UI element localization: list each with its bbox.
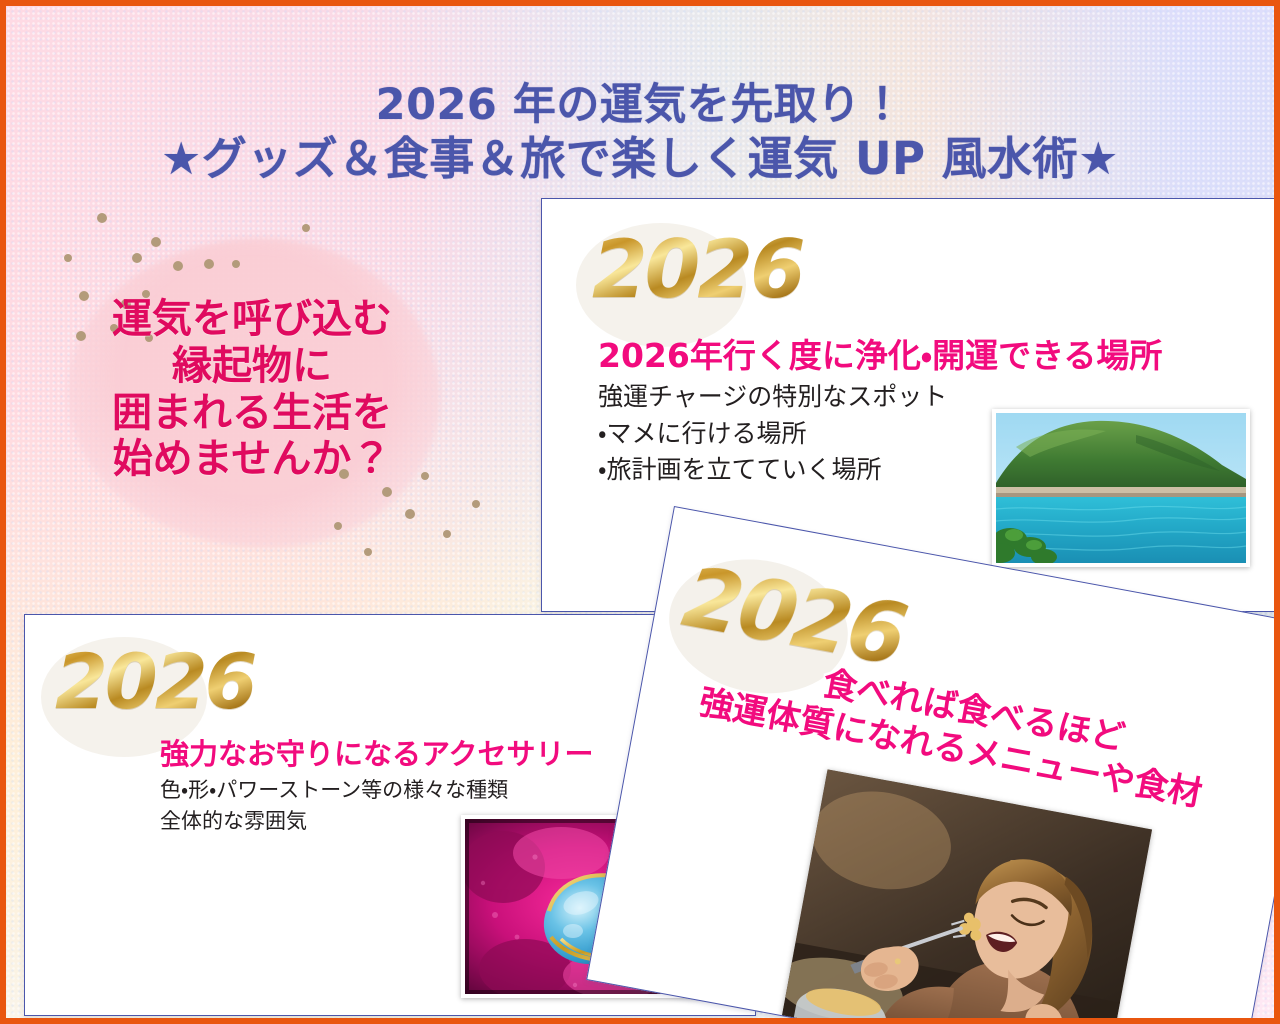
confetti-dot xyxy=(204,259,214,269)
woman-eating-photo xyxy=(782,769,1152,1024)
confetti-dot xyxy=(364,548,372,556)
island-sea-illustration xyxy=(996,413,1246,563)
confetti-dot xyxy=(472,500,480,508)
confetti-dot xyxy=(443,530,451,538)
card-place-heading: 2026年行く度に浄化・開運できる場所 xyxy=(598,329,1162,377)
confetti-dot xyxy=(173,261,183,271)
confetti-dot xyxy=(97,213,107,223)
confetti-dot xyxy=(151,237,161,247)
title-line-2: ★グッズ＆食事＆旅で楽しく運気 UP 風水術★ xyxy=(6,132,1274,187)
year-badge-2026: 2026 xyxy=(592,223,803,316)
island-sea-photo xyxy=(992,409,1250,567)
year-badge-2026: 2026 xyxy=(55,637,255,726)
confetti-dot xyxy=(382,487,392,497)
lead-copy-line-4: 始めませんか？ xyxy=(66,436,438,483)
confetti-dot xyxy=(232,260,240,268)
title-line-1: 2026 年の運気を先取り！ xyxy=(6,79,1274,131)
poster-canvas: 2026 年の運気を先取り！ ★グッズ＆食事＆旅で楽しく運気 UP 風水術★ 運… xyxy=(0,0,1280,1024)
lead-copy-line-1: 運気を呼び込む xyxy=(66,296,438,343)
confetti-dot xyxy=(132,253,142,263)
card-accessory-body: 色・形・パワーストーン等の様々な種類 全体的な雰囲気 xyxy=(160,775,508,836)
confetti-dot xyxy=(302,224,310,232)
card-accessory-heading: 強力なお守りになるアクセサリー xyxy=(160,731,594,773)
woman-eating-illustration xyxy=(782,769,1152,1024)
confetti-dot xyxy=(334,522,342,530)
lead-copy-line-3: 囲まれる生活を xyxy=(66,390,438,437)
lead-copy-line-2: 縁起物に xyxy=(66,343,438,390)
confetti-dot xyxy=(64,254,72,262)
confetti-dot xyxy=(405,509,415,519)
page-title: 2026 年の運気を先取り！ ★グッズ＆食事＆旅で楽しく運気 UP 風水術★ xyxy=(6,79,1274,186)
lead-copy: 運気を呼び込む 縁起物に 囲まれる生活を 始めませんか？ xyxy=(66,296,438,483)
card-place-body: 強運チャージの特別なスポット ・マメに行ける場所 ・旅計画を立てていく場所 xyxy=(598,379,947,489)
